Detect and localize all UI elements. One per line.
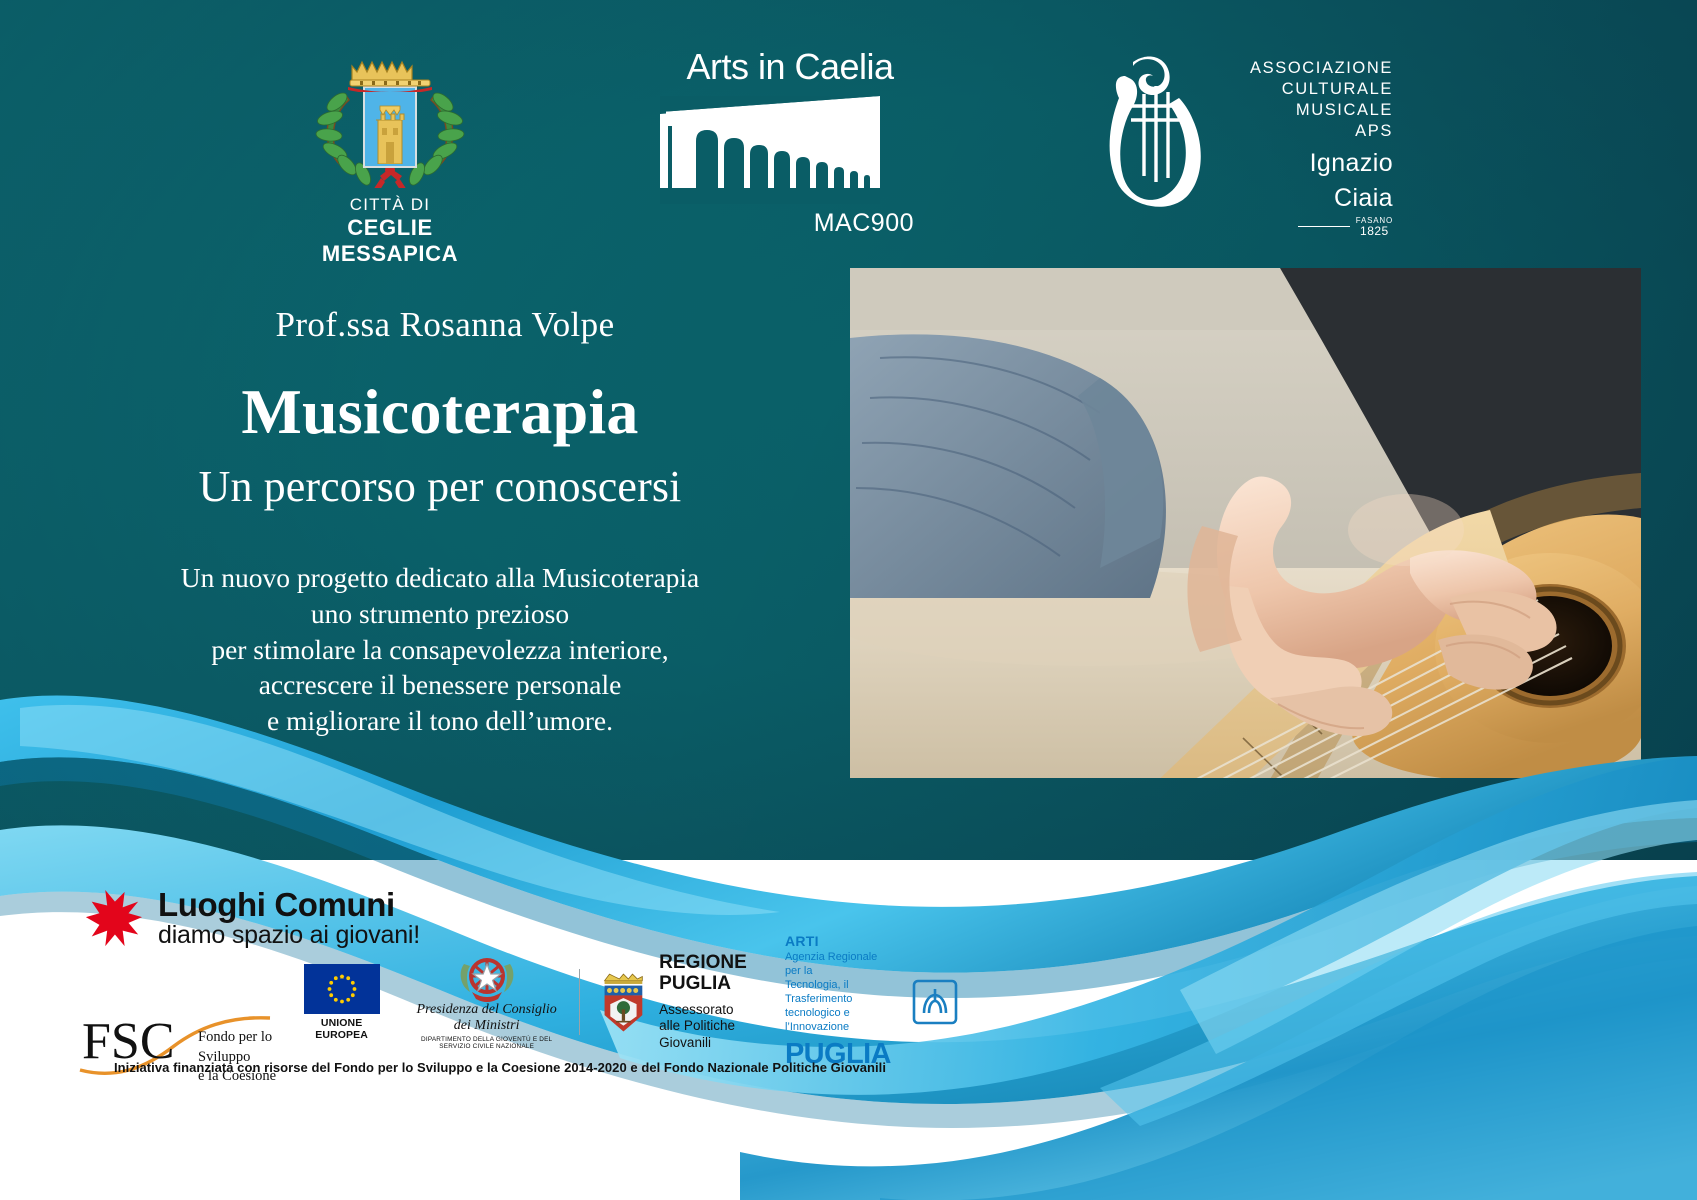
luoghi-comuni-tagline: diamo spazio ai giovani! bbox=[158, 921, 420, 950]
presidenza-line1: Presidenza del Consiglio dei Ministri bbox=[408, 1002, 566, 1034]
logo-anci bbox=[912, 979, 958, 1025]
ciaia-text-block: ASSOCIAZIONE CULTURALE MUSICALE APS Igna… bbox=[1223, 58, 1393, 237]
poster-root: CITTÀ DI CEGLIE MESSAPICA Arts in Caelia bbox=[0, 0, 1697, 1200]
logo-row: CITTÀ DI CEGLIE MESSAPICA Arts in Caelia bbox=[0, 0, 1697, 260]
ciaia-line-1: ASSOCIAZIONE bbox=[1223, 58, 1393, 79]
regione-puglia-line2: PUGLIA bbox=[659, 974, 767, 995]
description-block: Un nuovo progetto dedicato alla Musicote… bbox=[60, 560, 820, 739]
logo-arti-puglia: ARTI Agenzia Regionale per la Tecnologia… bbox=[785, 933, 896, 1070]
ceglie-label-line2: CEGLIE MESSAPICA bbox=[300, 215, 480, 267]
crown-icon bbox=[344, 52, 436, 92]
ciaia-line-4: APS bbox=[1223, 121, 1393, 142]
description-line: uno strumento prezioso bbox=[60, 596, 820, 632]
presidenza-line2: DIPARTIMENTO DELLA GIOVENTÙ E DEL SERVIZ… bbox=[408, 1036, 566, 1050]
regione-puglia-line3: Assessorato bbox=[659, 1002, 767, 1018]
guitar-photo-illustration bbox=[850, 268, 1641, 778]
emblem-of-italy-icon bbox=[452, 954, 522, 1002]
regione-puglia-crest-icon bbox=[598, 964, 649, 1040]
caelia-subtitle: MAC900 bbox=[660, 209, 920, 238]
ciaia-founded-year: 1825 bbox=[1356, 225, 1393, 237]
tower-icon bbox=[370, 102, 410, 164]
regione-puglia-text: REGIONE PUGLIA Assessorato alle Politich… bbox=[659, 953, 767, 1051]
ciaia-name-1: Ignazio bbox=[1223, 150, 1393, 176]
regione-puglia-line1: REGIONE bbox=[659, 953, 767, 974]
logo-ceglie-messapica: CITTÀ DI CEGLIE MESSAPICA bbox=[300, 48, 480, 267]
aqueduct-icon bbox=[660, 96, 880, 204]
main-text-block: Prof.ssa Rosanna Volpe Musicoterapia Un … bbox=[60, 305, 820, 739]
page-subtitle: Un percorso per conoscersi bbox=[60, 461, 820, 512]
logo-ignazio-ciaia: ASSOCIAZIONE CULTURALE MUSICALE APS Igna… bbox=[1095, 50, 1395, 230]
description-line: e migliorare il tono dell’umore. bbox=[60, 703, 820, 739]
logo-luoghi-comuni: Luoghi Comuni diamo spazio ai giovani! bbox=[82, 888, 420, 950]
description-line: per stimolare la consapevolezza interior… bbox=[60, 632, 820, 668]
ciaia-divider-rule bbox=[1298, 226, 1350, 227]
funding-note: Iniziativa finanziata con risorse del Fo… bbox=[0, 1060, 1000, 1075]
arti-title: ARTI bbox=[785, 933, 819, 949]
logo-presidenza-consiglio: Presidenza del Consiglio dei Ministri DI… bbox=[408, 954, 566, 1050]
ceglie-crest-icon bbox=[300, 48, 480, 193]
luoghi-comuni-star-icon bbox=[82, 888, 144, 950]
hands-playing-acoustic-guitar-photo bbox=[850, 268, 1641, 778]
eu-flag-icon bbox=[304, 964, 380, 1014]
description-line: Un nuovo progetto dedicato alla Musicote… bbox=[60, 560, 820, 596]
anci-icon bbox=[912, 979, 958, 1025]
speaker-name: Prof.ssa Rosanna Volpe bbox=[60, 305, 820, 345]
regione-puglia-line4: alle Politiche Giovanili bbox=[659, 1018, 767, 1050]
page-title: Musicoterapia bbox=[60, 375, 820, 449]
arti-line3: tecnologico e l’Innovazione bbox=[785, 1007, 896, 1035]
ciaia-foundation-block: FASANO 1825 bbox=[1223, 217, 1393, 237]
luoghi-comuni-text: Luoghi Comuni diamo spazio ai giovani! bbox=[158, 888, 420, 950]
luoghi-comuni-title: Luoghi Comuni bbox=[158, 888, 420, 921]
logo-regione-puglia: REGIONE PUGLIA Assessorato alle Politich… bbox=[598, 953, 767, 1051]
description-line: accrescere il benessere personale bbox=[60, 667, 820, 703]
ciaia-line-3: MUSICALE bbox=[1223, 100, 1393, 121]
logo-arts-in-caelia: Arts in Caelia bbox=[660, 46, 920, 238]
ceglie-label-line1: CITTÀ DI bbox=[300, 195, 480, 215]
institutional-logo-row: FSC Fondo per lo Sviluppo e la Coesione bbox=[78, 962, 958, 1042]
footer-divider bbox=[579, 969, 580, 1035]
ciaia-name-2: Ciaia bbox=[1223, 185, 1393, 211]
ciaia-year-group: FASANO 1825 bbox=[1356, 217, 1393, 237]
ciaia-line-2: CULTURALE bbox=[1223, 79, 1393, 100]
arti-line2: Tecnologia, il Trasferimento bbox=[785, 979, 896, 1007]
lyre-swan-icon bbox=[1095, 50, 1210, 225]
fsc-caption: Fondo per lo Sviluppo e la Coesione bbox=[198, 1028, 328, 1087]
caelia-title: Arts in Caelia bbox=[660, 46, 920, 88]
wreath-ribbon-icon bbox=[373, 165, 407, 188]
arti-line1: Agenzia Regionale per la bbox=[785, 951, 896, 979]
